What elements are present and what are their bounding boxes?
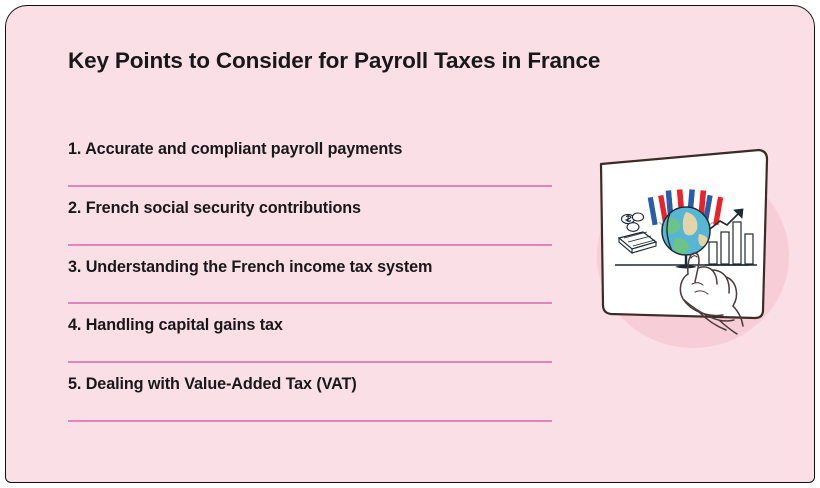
list-item-divider: [68, 185, 552, 187]
list-item: 1. Accurate and compliant payroll paymen…: [68, 140, 552, 199]
whiteboard-presentation-illustration: [571, 134, 806, 369]
list-item-label: 5. Dealing with Value-Added Tax (VAT): [68, 375, 357, 394]
list-item-divider: [68, 361, 552, 363]
list-item: 4. Handling capital gains tax: [68, 316, 552, 375]
list-item: 5. Dealing with Value-Added Tax (VAT): [68, 375, 552, 434]
list-item-label: 4. Handling capital gains tax: [68, 316, 283, 335]
list-item: 2. French social security contributions: [68, 199, 552, 258]
list-item-divider: [68, 244, 552, 246]
key-points-list: 1. Accurate and compliant payroll paymen…: [68, 140, 552, 434]
list-item-label: 1. Accurate and compliant payroll paymen…: [68, 140, 402, 159]
list-item-label: 2. French social security contributions: [68, 199, 361, 218]
list-item-label: 3. Understanding the French income tax s…: [68, 258, 432, 277]
info-card: Key Points to Consider for Payroll Taxes…: [5, 5, 815, 483]
page-title: Key Points to Consider for Payroll Taxes…: [68, 48, 600, 74]
list-item: 3. Understanding the French income tax s…: [68, 258, 552, 317]
list-item-divider: [68, 302, 552, 304]
list-item-divider: [68, 420, 552, 422]
